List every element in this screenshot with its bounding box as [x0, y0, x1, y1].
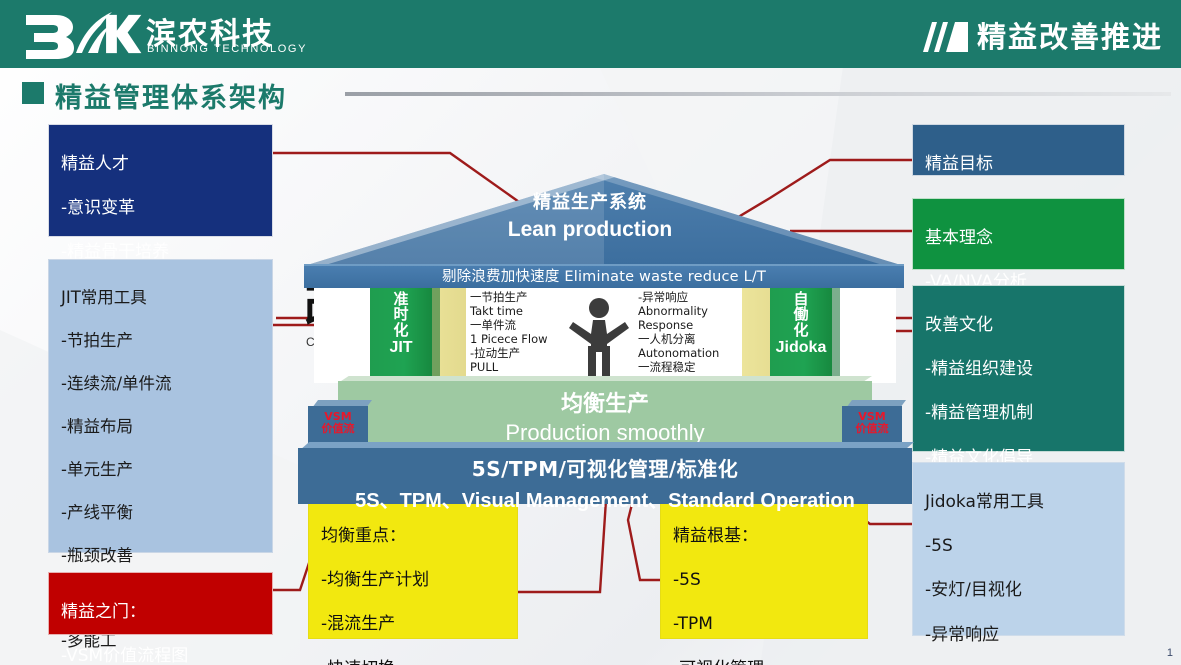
callout-title: 精益之门： — [61, 601, 264, 623]
pillar-jit-cn: 准 时 化 — [370, 288, 432, 338]
callout-item: -5S — [925, 535, 1116, 557]
person-icon — [562, 296, 636, 385]
pillar-jit-en: JIT — [370, 339, 432, 357]
callout-balance-focus[interactable]: 均衡重点： -均衡生产计划 -混流生产 -快速切换 -精益计划管理 -均衡生产箱 — [308, 496, 518, 639]
vsm-left-sublabel: 价值流 — [308, 423, 368, 435]
callout-jidoka-tools[interactable]: Jidoka常用工具 -5S -安灯/目视化 -异常响应 -防错技术 -品质改善… — [912, 462, 1125, 636]
callout-lean-goal[interactable]: 精益目标 -QCDSM管理 — [912, 124, 1125, 176]
foundation-label-en: 5S、TPM、Visual Management、Standard Operat… — [298, 484, 912, 513]
pillar-jit-char: 化 — [370, 323, 432, 338]
page-title: 精益管理体系架构 — [55, 76, 287, 115]
lintel-banner: 剔除浪费加快速度 Eliminate waste reduce L/T — [304, 266, 904, 288]
pillar-jit: 准 时 化 JIT — [370, 288, 432, 383]
callout-item: -可视化管理 — [673, 658, 859, 665]
callout-lean-foundation[interactable]: 精益根基： -5S -TPM -可视化管理 -标准化 — [660, 496, 868, 639]
callout-title: 精益目标 — [925, 153, 1116, 175]
foundation-slab: 5S/TPM/可视化管理/标准化 5S、TPM、Visual Managemen… — [298, 448, 912, 504]
foundation-label-cn: 5S/TPM/可视化管理/标准化 — [298, 453, 912, 482]
callout-item: -精益管理机制 — [925, 402, 1116, 424]
callout-title: 精益根基： — [673, 525, 859, 547]
callout-title: JIT常用工具 — [61, 287, 264, 308]
jidoka-detail-list: -异常响应 Abnormality Response 一人机分离 Autonom… — [638, 290, 758, 388]
vsm-block-right: VSM 价值流 — [842, 406, 902, 448]
page-number: 1 — [1167, 647, 1173, 659]
title-divider — [345, 92, 1171, 96]
pillar-jidoka-cn: 自 働 化 — [770, 288, 832, 338]
callout-lean-talent[interactable]: 精益人才 -意识变革 -精益骨干培养 -精益班组建设 -全员参与 — [48, 124, 273, 237]
callout-item: -快速切换 — [321, 658, 509, 665]
callout-title: 基本理念 — [925, 227, 1116, 249]
callout-title: 精益人才 — [61, 153, 264, 175]
heijunka-label-cn: 均衡生产 — [338, 386, 872, 418]
pillar-jidoka: 自 働 化 Jidoka — [770, 288, 832, 383]
title-bullet-icon — [22, 82, 44, 104]
callout-item: -异常响应 — [925, 624, 1116, 646]
callout-item: -均衡生产计划 — [321, 569, 509, 591]
callout-item: -瓶颈改善 — [61, 545, 264, 566]
callout-title: Jidoka常用工具 — [925, 491, 1116, 513]
callout-title: 改善文化 — [925, 314, 1116, 336]
pillar-jidoka-en: Jidoka — [770, 339, 832, 357]
page-header: 滨农科技 BINNONG TECHNOLOGY 精益改善推进 — [0, 0, 1181, 68]
callout-jit-tools[interactable]: JIT常用工具 -节拍生产 -连续流/单件流 -精益布局 -单元生产 -产线平衡… — [48, 259, 273, 553]
callout-item: -意识变革 — [61, 197, 264, 219]
callout-item: -TPM — [673, 613, 859, 635]
heijunka-label: 均衡生产 Production smoothly — [338, 386, 872, 446]
vsm-block-left: VSM 价值流 — [308, 406, 368, 448]
callout-basic-concept[interactable]: 基本理念 -VA/NVA分析 -七大浪费 — [912, 198, 1125, 270]
callout-item: -节拍生产 — [61, 330, 264, 351]
pillar-jidoka-char: 化 — [770, 323, 832, 338]
lean-house-diagram: 精益生产系统 Lean production 剔除浪费加快速度 Eliminat… — [290, 168, 920, 498]
callout-item: -安灯/目视化 — [925, 579, 1116, 601]
bns-logo-icon — [20, 8, 148, 60]
callout-item: -精益布局 — [61, 416, 264, 437]
callout-item: -产线平衡 — [61, 502, 264, 523]
callout-item: -5S — [673, 569, 859, 591]
slide-canvas: 滨农科技 BINNONG TECHNOLOGY 精益改善推进 精益管理体系架构 — [0, 0, 1181, 665]
callout-item: -连续流/单件流 — [61, 373, 264, 394]
header-title: 精益改善推进 — [977, 14, 1163, 56]
callout-title: 均衡重点： — [321, 525, 509, 547]
callout-item: -VSM价值流程图 — [61, 645, 264, 665]
logo-company-name-en: BINNONG TECHNOLOGY — [147, 43, 307, 55]
roof-shape — [304, 174, 904, 266]
callout-item: -精益组织建设 — [925, 358, 1116, 380]
triple-slash-icon — [923, 22, 979, 57]
pillar-side-right — [832, 288, 840, 383]
callout-item: -混流生产 — [321, 613, 509, 635]
pillar-side-left — [432, 288, 440, 383]
callout-lean-door[interactable]: 精益之门： -VSM价值流程图 — [48, 572, 273, 635]
vsm-right-sublabel: 价值流 — [842, 423, 902, 435]
callout-kaizen-culture[interactable]: 改善文化 -精益组织建设 -精益管理机制 -精益文化倡导 -精益文化改善周 -D… — [912, 285, 1125, 452]
callout-item: -单元生产 — [61, 459, 264, 480]
